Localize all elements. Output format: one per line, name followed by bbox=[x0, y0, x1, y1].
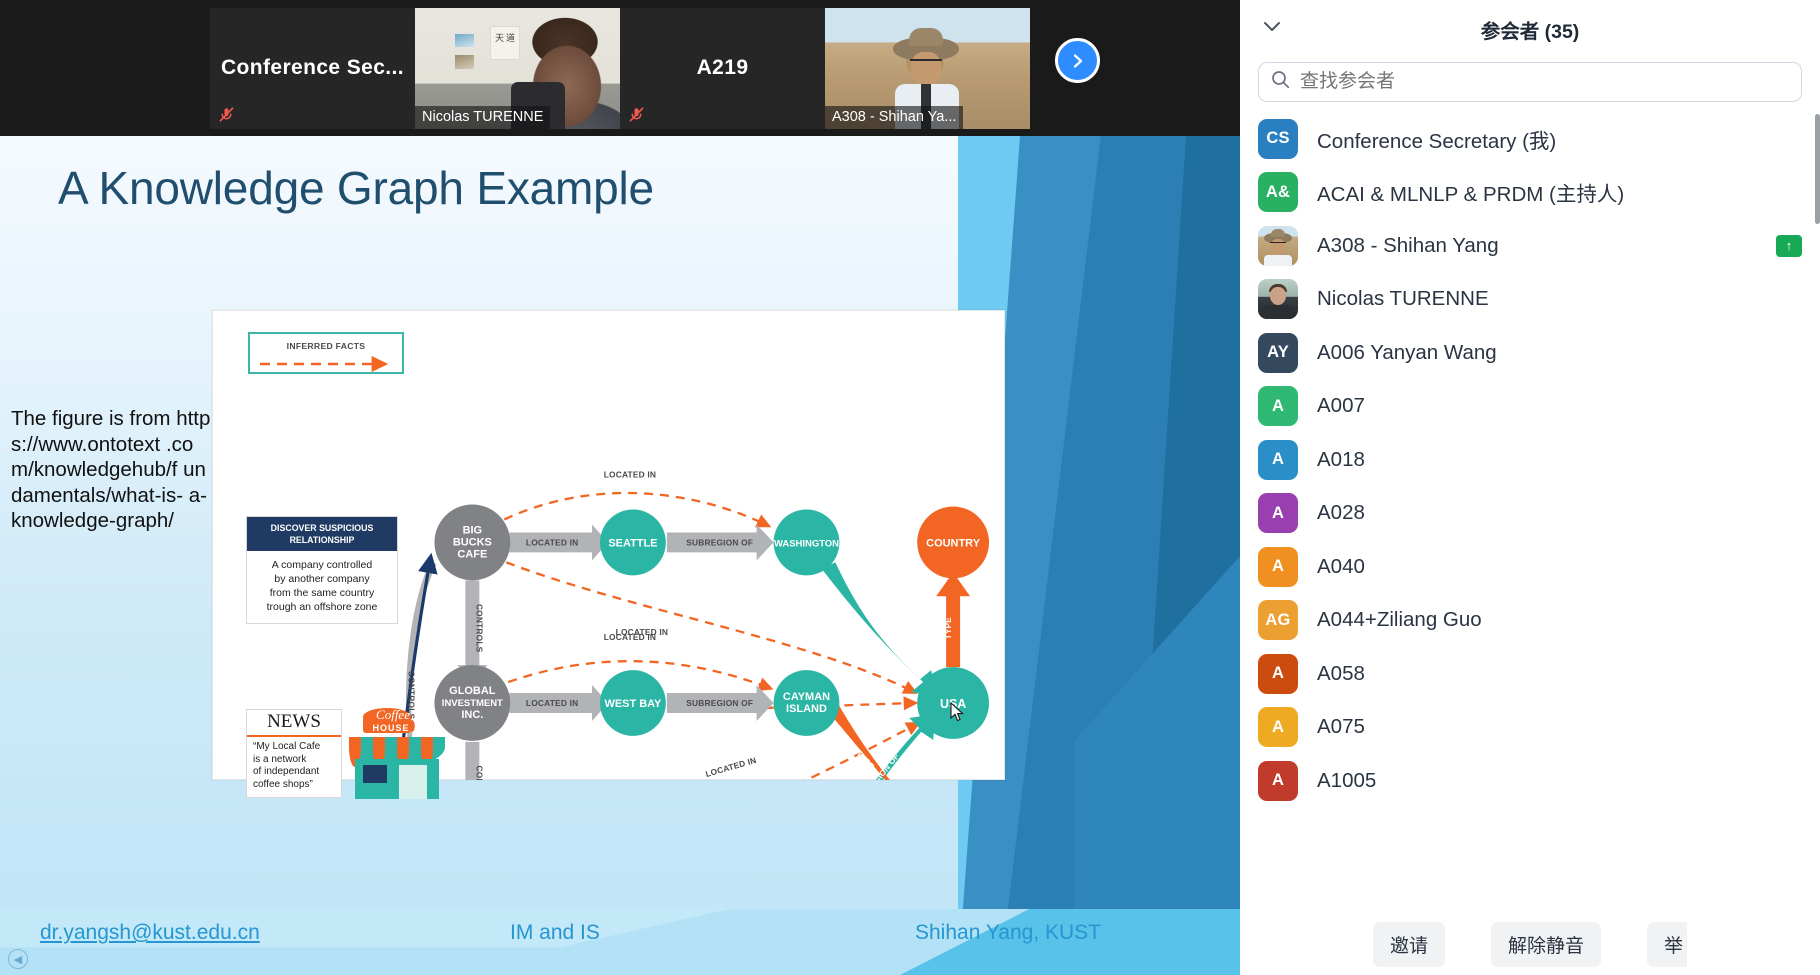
video-tile-a308-shihan-yang[interactable]: A308 - Shihan Ya... bbox=[825, 8, 1030, 129]
callout-body-line: from the same country bbox=[253, 586, 391, 600]
avatar bbox=[1258, 279, 1298, 319]
list-item[interactable]: CS Conference Secretary (我) bbox=[1240, 112, 1820, 166]
participant-name: A007 bbox=[1317, 394, 1365, 418]
video-tile-a219[interactable]: A219 bbox=[620, 8, 825, 129]
wall-picture-icon bbox=[455, 34, 474, 47]
torso-shape bbox=[1264, 255, 1292, 266]
avatar: A bbox=[1258, 654, 1298, 694]
participant-name: A058 bbox=[1317, 662, 1365, 686]
kg-node-label: CAFE bbox=[457, 548, 487, 560]
meeting-stage: Conference Sec... Nicolas TURENNE bbox=[0, 0, 1240, 975]
avatar: AY bbox=[1258, 333, 1298, 373]
participants-panel-header: 参会者 (35) bbox=[1240, 0, 1820, 58]
kg-edge-label-located-in: LOCATED IN bbox=[604, 470, 656, 480]
kg-edge-label-subregion-of: SUBREGION OF bbox=[686, 537, 753, 547]
avatar-initials: AG bbox=[1265, 611, 1290, 630]
participant-name: Conference Secretary (我) bbox=[1317, 124, 1556, 154]
slide-footer: dr.yangsh@kust.edu.cn IM and IS Shihan Y… bbox=[0, 909, 1240, 975]
glasses-icon bbox=[1270, 242, 1286, 246]
kg-edge-label-controls: CONTROLS bbox=[474, 604, 484, 653]
face-shape bbox=[1270, 287, 1286, 305]
participants-panel-footer: 邀请 解除静音 举 bbox=[1240, 913, 1820, 975]
participant-name: A075 bbox=[1317, 715, 1365, 739]
zoom-meeting-window: Conference Sec... Nicolas TURENNE bbox=[0, 0, 1820, 975]
callout-body-line: by another company bbox=[253, 572, 391, 586]
knowledge-graph-figure: BIG BUCKS CAFE GLOBAL INVESTMENT INC. MY… bbox=[212, 310, 1005, 780]
avatar bbox=[1258, 226, 1298, 266]
wall-picture-icon bbox=[455, 55, 474, 69]
video-tile-display-name: Conference Sec... bbox=[210, 8, 415, 129]
chevron-left-icon: ◀ bbox=[14, 953, 22, 966]
mic-muted-icon bbox=[628, 106, 645, 123]
participant-list[interactable]: CS Conference Secretary (我) A& ACAI & ML… bbox=[1240, 112, 1820, 902]
participant-search-box[interactable] bbox=[1258, 62, 1802, 102]
footer-email-link[interactable]: dr.yangsh@kust.edu.cn bbox=[40, 921, 260, 945]
shared-screen-slide: A Knowledge Graph Example The figure is … bbox=[0, 136, 1240, 975]
legend-label: INFERRED FACTS bbox=[250, 341, 402, 351]
search-icon bbox=[1271, 70, 1290, 94]
avatar: A bbox=[1258, 386, 1298, 426]
participant-name: A018 bbox=[1317, 448, 1365, 472]
news-quote: “My Local Cafe is a network of independa… bbox=[247, 737, 341, 797]
kg-node-label: GLOBAL bbox=[449, 685, 496, 697]
list-item[interactable]: A& ACAI & MLNLP & PRDM (主持人) bbox=[1240, 166, 1820, 220]
video-tile-display-name: A308 - Shihan Ya... bbox=[825, 106, 963, 129]
avatar-initials: A bbox=[1272, 450, 1284, 469]
video-tile-display-name: A219 bbox=[620, 8, 825, 129]
kg-edge-label-located-in: LOCATED IN bbox=[604, 632, 656, 642]
kg-edge-label-located-in: LOCATED IN bbox=[526, 537, 578, 547]
kg-edge-label-located-in: LOCATED IN bbox=[704, 755, 757, 779]
kg-edge-label-located-in: LOCATED IN bbox=[526, 698, 578, 708]
kg-edge-label-subregion-of: SUBREGION OF bbox=[686, 698, 753, 708]
participant-name: A006 Yanyan Wang bbox=[1317, 341, 1497, 365]
news-quote-line: is a network bbox=[253, 754, 335, 767]
participant-search-input[interactable] bbox=[1300, 71, 1789, 93]
list-item[interactable]: A A058 bbox=[1240, 647, 1820, 701]
avatar: A bbox=[1258, 547, 1298, 587]
raise-hand-badge[interactable]: ↑ bbox=[1776, 235, 1802, 257]
avatar: A& bbox=[1258, 172, 1298, 212]
avatar-initials: A bbox=[1272, 397, 1284, 416]
avatar-initials: A bbox=[1272, 504, 1284, 523]
callout-body-line: trough an offshore zone bbox=[253, 600, 391, 614]
news-quote-line: of independant bbox=[253, 766, 335, 779]
legend-dashed-arrow-icon bbox=[252, 356, 402, 372]
avatar-initials: A bbox=[1272, 557, 1284, 576]
coffee-shop-illustration: Coffee HOUSE bbox=[341, 703, 453, 803]
participant-list-scrollbar[interactable] bbox=[1815, 114, 1820, 224]
list-item[interactable]: AY A006 Yanyan Wang bbox=[1240, 326, 1820, 380]
avatar-initials: A bbox=[1272, 771, 1284, 790]
avatar-initials: A& bbox=[1266, 183, 1290, 202]
avatar: A bbox=[1258, 493, 1298, 533]
callout-heading: DISCOVER SUSPICIOUS RELATIONSHIP bbox=[247, 517, 397, 551]
list-item[interactable]: A A007 bbox=[1240, 380, 1820, 434]
video-filmstrip: Conference Sec... Nicolas TURENNE bbox=[0, 0, 1240, 136]
mouse-cursor-icon bbox=[950, 702, 964, 722]
avatar: A bbox=[1258, 707, 1298, 747]
panel-collapse-button[interactable] bbox=[1250, 7, 1294, 51]
participant-name: Nicolas TURENNE bbox=[1317, 287, 1489, 311]
participant-name: A040 bbox=[1317, 555, 1365, 579]
suspicious-relationship-callout: DISCOVER SUSPICIOUS RELATIONSHIP A compa… bbox=[246, 516, 398, 624]
list-item[interactable]: A A075 bbox=[1240, 701, 1820, 755]
callout-body-line: A company controlled bbox=[253, 558, 391, 572]
video-tile-nicolas-turenne[interactable]: Nicolas TURENNE bbox=[415, 8, 620, 129]
participant-name: A1005 bbox=[1317, 769, 1376, 793]
hat-crown-shape bbox=[1271, 229, 1285, 237]
news-quote-line: “My Local Cafe bbox=[253, 741, 335, 754]
callout-heading-line2: RELATIONSHIP bbox=[250, 534, 394, 546]
list-item[interactable]: A A018 bbox=[1240, 433, 1820, 487]
kg-node-label: BUCKS bbox=[453, 536, 492, 548]
avatar: A bbox=[1258, 761, 1298, 801]
participant-name: A308 - Shihan Yang bbox=[1317, 234, 1499, 258]
kg-node-label: ISLAND bbox=[786, 703, 827, 715]
callout-body: A company controlled by another company … bbox=[247, 551, 397, 623]
participant-name: ACAI & MLNLP & PRDM (主持人) bbox=[1317, 177, 1624, 207]
list-item[interactable]: A A040 bbox=[1240, 540, 1820, 594]
torso-shape bbox=[1263, 305, 1293, 319]
news-quote-line: coffee shops” bbox=[253, 779, 335, 792]
hat-crown-shape bbox=[909, 28, 943, 46]
kg-node-label: SEATTLE bbox=[608, 537, 657, 549]
footer-center-text: IM and IS bbox=[510, 921, 600, 945]
participants-panel-title: 参会者 (35) bbox=[1240, 15, 1820, 44]
mic-muted-icon bbox=[218, 106, 235, 123]
kg-node-label: WASHINGTON bbox=[774, 538, 839, 549]
participants-panel: 参会者 (35) CS Conference Secretary (我) bbox=[1240, 0, 1820, 975]
filmstrip-next-button[interactable] bbox=[1055, 38, 1100, 83]
kg-node-label: COUNTRY bbox=[926, 537, 981, 549]
avatar-initials: AY bbox=[1267, 343, 1289, 362]
list-item[interactable]: AG A044+Ziliang Guo bbox=[1240, 594, 1820, 648]
video-tile-display-name: Nicolas TURENNE bbox=[415, 106, 550, 129]
teal-subregion-arrows bbox=[821, 562, 937, 779]
figure-source-note: The figure is from https://www.ontotext … bbox=[11, 406, 216, 534]
participant-search-wrapper bbox=[1240, 58, 1820, 112]
footer-author-text: Shihan Yang, KUST bbox=[915, 921, 1101, 945]
kg-node-label: INC. bbox=[461, 709, 483, 721]
avatar: CS bbox=[1258, 119, 1298, 159]
chevron-right-icon bbox=[1069, 52, 1087, 70]
slide-title: A Knowledge Graph Example bbox=[58, 161, 654, 215]
participant-name: A044+Ziliang Guo bbox=[1317, 608, 1482, 632]
storefront-label-top: Coffee bbox=[351, 707, 435, 723]
list-item[interactable]: A A028 bbox=[1240, 487, 1820, 541]
news-clipping: NEWS “My Local Cafe is a network of inde… bbox=[246, 709, 342, 798]
inferred-facts-legend: INFERRED FACTS bbox=[248, 332, 404, 374]
chevron-down-icon bbox=[1262, 20, 1282, 38]
avatar-initials: A bbox=[1272, 664, 1284, 683]
raise-hand-button[interactable]: 举 bbox=[1647, 922, 1687, 967]
participant-name: A028 bbox=[1317, 501, 1365, 525]
list-item[interactable]: A A1005 bbox=[1240, 754, 1820, 808]
invite-button[interactable]: 邀请 bbox=[1373, 922, 1445, 967]
avatar: AG bbox=[1258, 600, 1298, 640]
storefront-label-bottom: HOUSE bbox=[355, 723, 427, 733]
avatar-initials: CS bbox=[1266, 129, 1289, 148]
kg-node-label: BIG bbox=[463, 524, 483, 536]
kg-node-label: CAYMAN bbox=[783, 691, 830, 703]
list-item[interactable]: Nicolas TURENNE bbox=[1240, 273, 1820, 327]
video-tile-conference-secretary[interactable]: Conference Sec... bbox=[210, 8, 415, 129]
news-masthead: NEWS bbox=[247, 710, 341, 737]
avatar: A bbox=[1258, 440, 1298, 480]
glasses-icon bbox=[910, 59, 942, 67]
kg-edge-label-type: TYPE bbox=[944, 617, 953, 639]
slide-prev-button[interactable]: ◀ bbox=[8, 949, 28, 969]
avatar-initials: A bbox=[1272, 718, 1284, 737]
kg-node-label: WEST BAY bbox=[604, 698, 662, 710]
list-item[interactable]: A308 - Shihan Yang ↑ bbox=[1240, 219, 1820, 273]
kg-edge-label-controls: CONTROLS bbox=[474, 766, 484, 780]
unmute-button[interactable]: 解除静音 bbox=[1491, 922, 1601, 967]
wall-scroll-icon bbox=[490, 26, 520, 60]
callout-heading-line1: DISCOVER SUSPICIOUS bbox=[250, 522, 394, 534]
face-shape bbox=[911, 52, 941, 86]
